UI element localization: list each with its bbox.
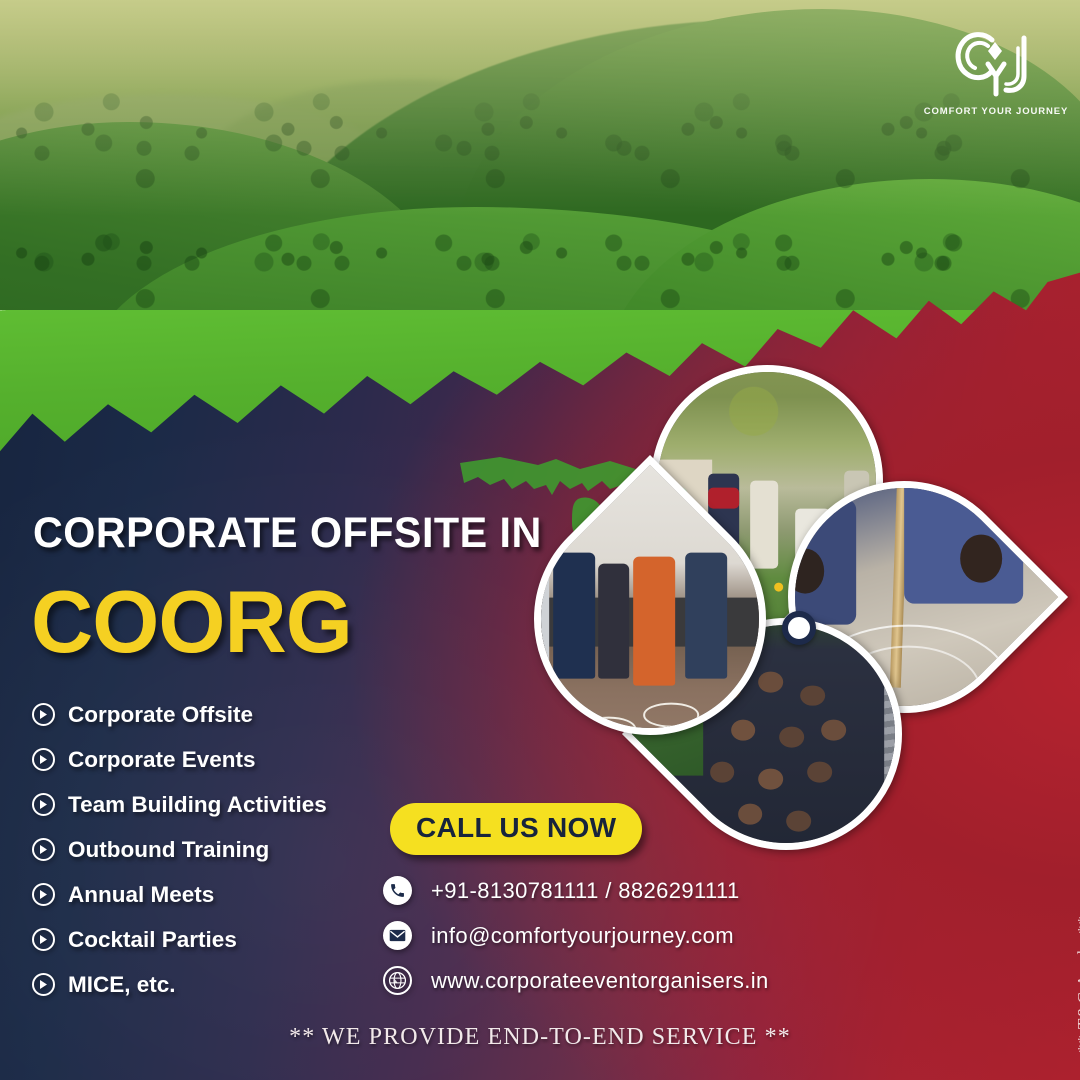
service-label: Annual Meets bbox=[68, 882, 214, 908]
headline-line1: CORPORATE OFFSITE IN bbox=[33, 512, 542, 555]
chevron-circle-right-icon bbox=[32, 793, 55, 816]
service-label: Corporate Offsite bbox=[68, 702, 253, 728]
poster-canvas: COMFORT YOUR JOURNEY bbox=[0, 0, 1080, 1080]
chevron-circle-right-icon bbox=[32, 928, 55, 951]
contact-row-phone[interactable]: +91-8130781111 / 8826291111 bbox=[383, 868, 1003, 913]
list-item[interactable]: Corporate Offsite bbox=[32, 692, 452, 737]
contact-row-website[interactable]: www.corporateeventorganisers.in bbox=[383, 958, 1003, 1003]
service-label: Cocktail Parties bbox=[68, 927, 237, 953]
chevron-circle-right-icon bbox=[32, 838, 55, 861]
list-item[interactable]: Outbound Training bbox=[32, 827, 452, 872]
list-item[interactable]: Team Building Activities bbox=[32, 782, 452, 827]
chevron-circle-right-icon bbox=[32, 973, 55, 996]
globe-icon bbox=[383, 966, 412, 995]
cyj-monogram-icon bbox=[948, 26, 1044, 104]
phone-number: +91-8130781111 / 8826291111 bbox=[431, 878, 740, 904]
headline-city: COORG bbox=[31, 578, 352, 666]
chevron-circle-right-icon bbox=[32, 748, 55, 771]
service-label: Corporate Events bbox=[68, 747, 256, 773]
chevron-circle-right-icon bbox=[32, 883, 55, 906]
website-url: www.corporateeventorganisers.in bbox=[431, 968, 769, 994]
contact-block: +91-8130781111 / 8826291111 info@comfort… bbox=[383, 868, 1003, 1003]
phone-icon bbox=[383, 876, 412, 905]
service-label: MICE, etc. bbox=[68, 972, 176, 998]
service-label: Team Building Activities bbox=[68, 792, 327, 818]
service-label: Outbound Training bbox=[68, 837, 269, 863]
list-item[interactable]: Corporate Events bbox=[32, 737, 452, 782]
logo-tagline: COMFORT YOUR JOURNEY bbox=[924, 106, 1069, 117]
email-address: info@comfortyourjourney.com bbox=[431, 923, 734, 949]
contact-row-email[interactable]: info@comfortyourjourney.com bbox=[383, 913, 1003, 958]
terms-apply-text: ** T&C Apply ** bbox=[1074, 915, 1080, 1053]
envelope-icon bbox=[383, 921, 412, 950]
brand-logo: COMFORT YOUR JOURNEY bbox=[940, 26, 1052, 134]
call-us-now-button[interactable]: CALL US NOW bbox=[390, 803, 642, 855]
collage-center-pivot bbox=[782, 611, 816, 645]
footer-tagline: ** WE PROVIDE END-TO-END SERVICE ** bbox=[0, 1024, 1080, 1051]
chevron-circle-right-icon bbox=[32, 703, 55, 726]
